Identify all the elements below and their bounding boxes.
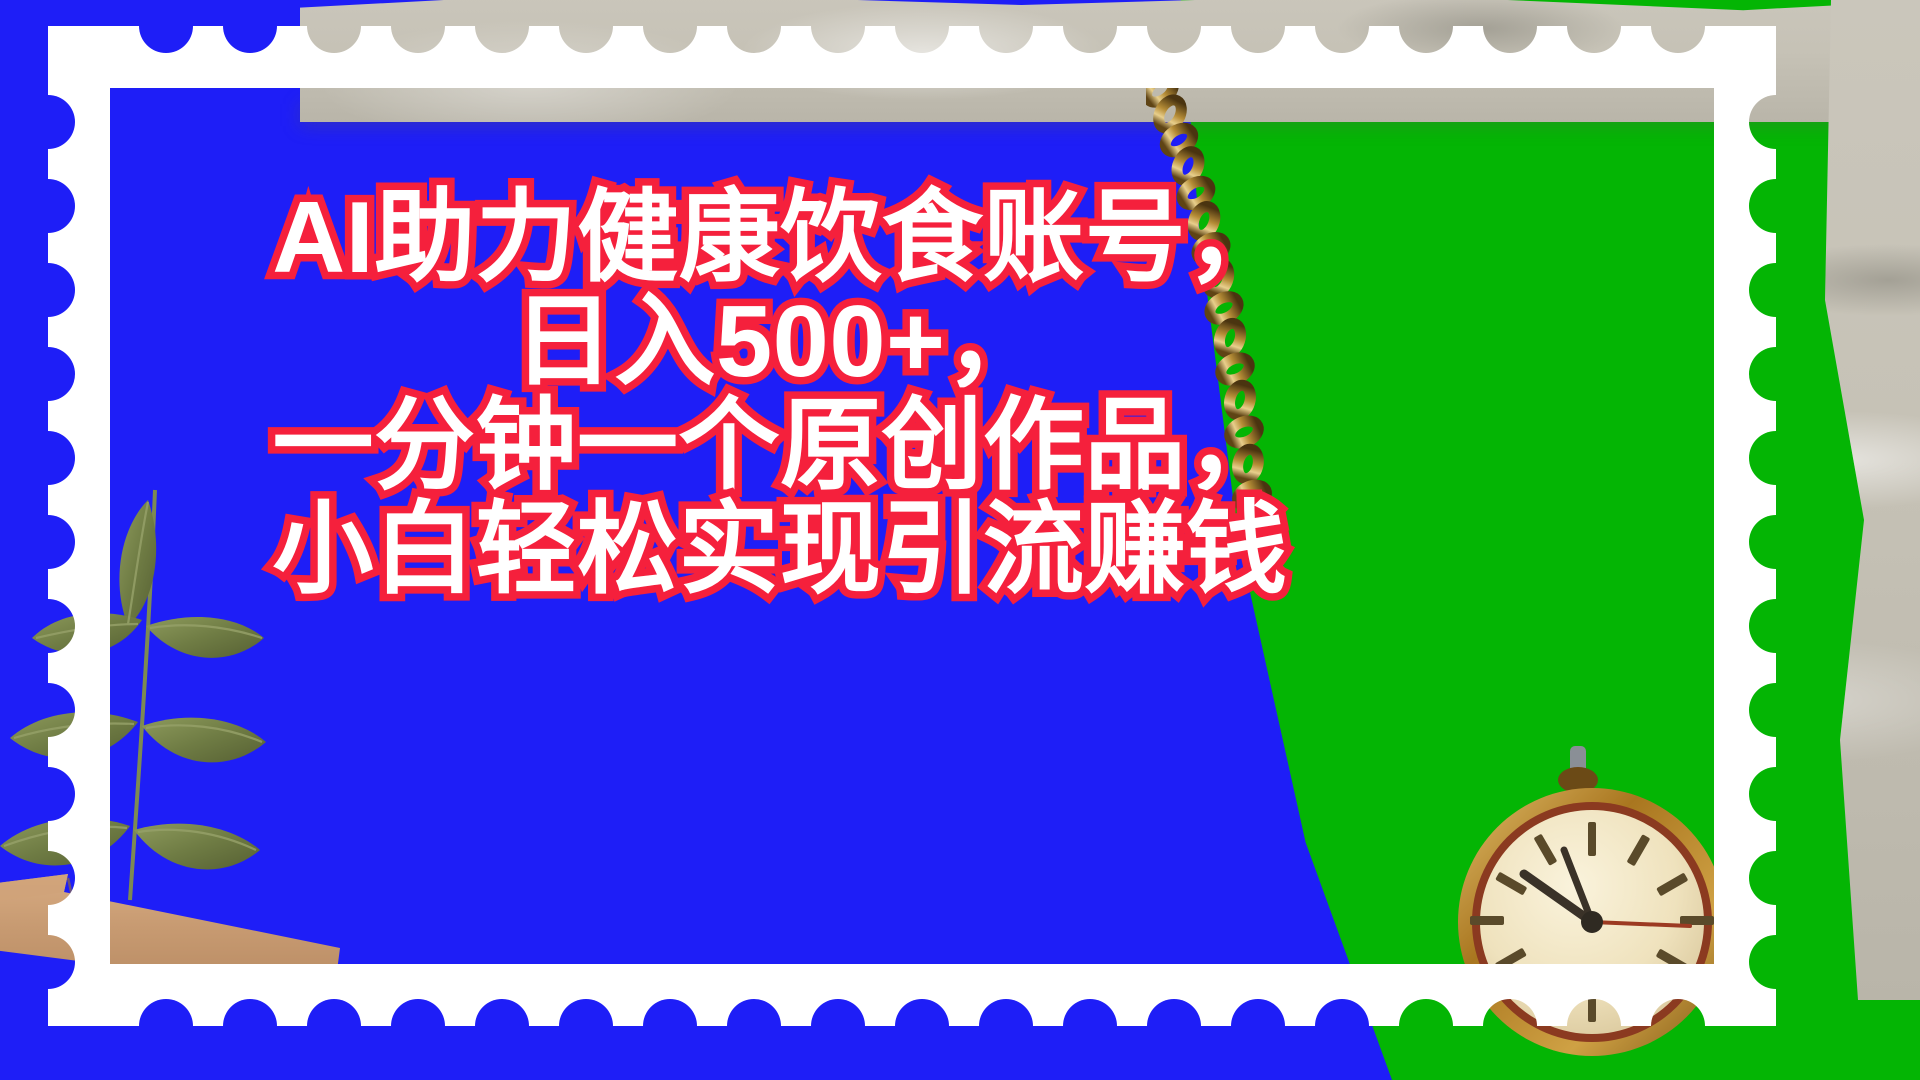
- headline-line-4: 小白轻松实现引流赚钱: [0, 498, 1560, 602]
- headline-block: AI助力健康饮食账号， 日入500+， 一分钟一个原创作品， 小白轻松实现引流赚…: [0, 186, 1560, 602]
- thumbnail-canvas: AI助力健康饮食账号， 日入500+， 一分钟一个原创作品， 小白轻松实现引流赚…: [0, 0, 1920, 1080]
- headline-line-3: 一分钟一个原创作品，: [0, 394, 1560, 498]
- headline-line-1: AI助力健康饮食账号，: [0, 186, 1560, 290]
- headline-line-2: 日入500+，: [0, 290, 1560, 394]
